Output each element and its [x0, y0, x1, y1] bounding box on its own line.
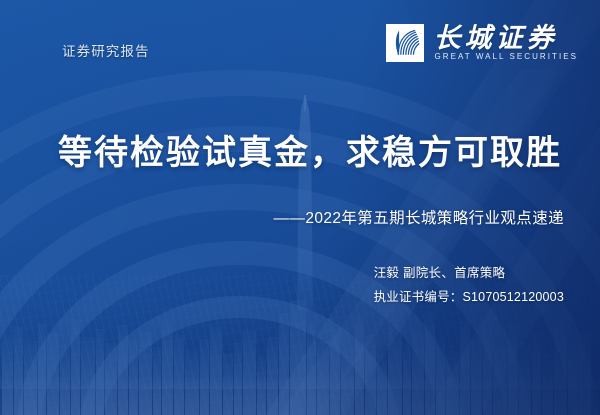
logo-name-en: GREAT WALL SECURITIES: [433, 53, 578, 61]
author-block: 汪毅 副院长、首席策略 执业证书编号：S1070512120003: [374, 262, 564, 305]
author-name-title: 汪毅 副院长、首席策略: [374, 262, 506, 281]
cover-content: 证券研究报告 长城证券: [0, 0, 600, 415]
great-wall-globe-icon: [386, 24, 424, 62]
page-title: 等待检验试真金，求稳方可取胜: [58, 133, 558, 174]
logo-name-cn: 长城证券: [433, 25, 578, 52]
author-certificate-number: 执业证书编号：S1070512120003: [374, 286, 564, 305]
logo-wordmark: 长城证券 GREAT WALL SECURITIES: [433, 25, 578, 61]
report-cover-slide: 证券研究报告 长城证券: [0, 0, 600, 415]
report-type-kicker: 证券研究报告: [62, 40, 150, 60]
page-subtitle: ——2022年第五期长城策略行业观点速递: [274, 206, 564, 228]
company-logo: 长城证券 GREAT WALL SECURITIES: [386, 24, 578, 62]
